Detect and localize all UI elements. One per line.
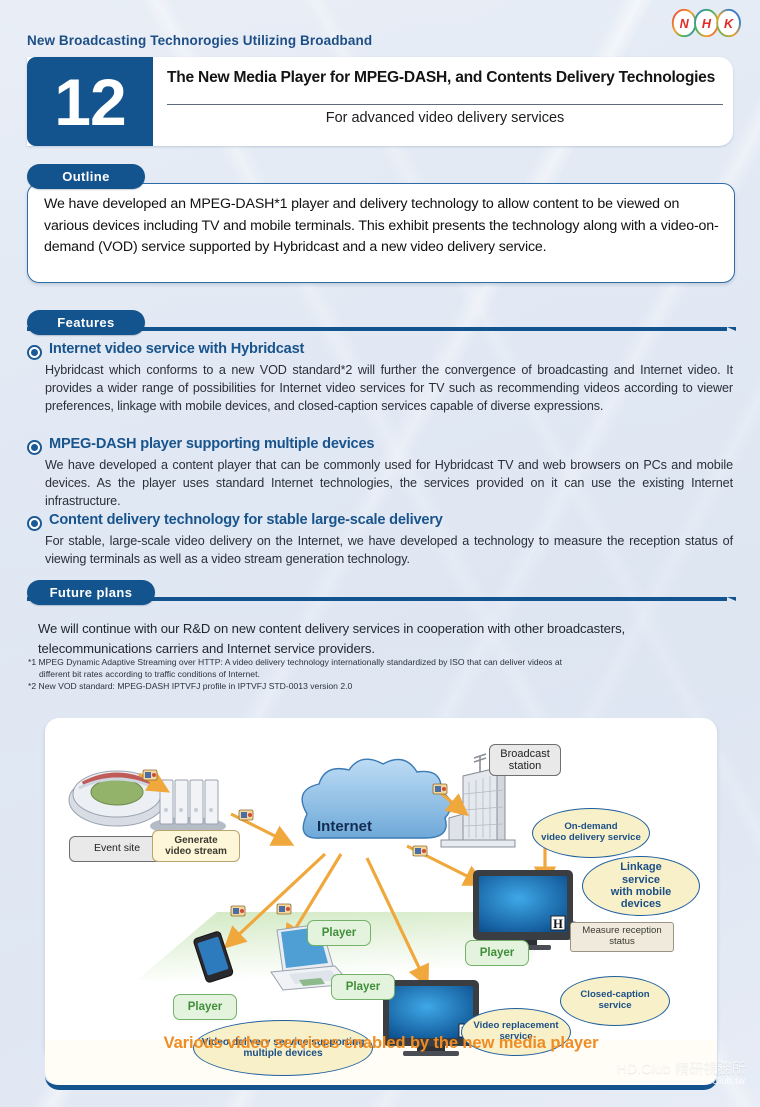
footnote-1-line1: *1 MPEG Dynamic Adaptive Streaming over … (28, 657, 562, 667)
broadcast-station-label: Broadcast station (489, 744, 561, 776)
feature-body: Hybridcast which conforms to a new VOD s… (45, 361, 733, 415)
footnotes: *1 MPEG Dynamic Adaptive Streaming over … (28, 656, 728, 693)
title-block: 12 The New Media Player for MPEG-DASH, a… (27, 57, 733, 146)
svg-text:H: H (553, 917, 563, 931)
feature-item-1: Internet video service with Hybridcast H… (27, 341, 733, 415)
on-demand-service-label: On-demand video delivery service (532, 808, 650, 858)
internet-cloud-label: Internet (317, 818, 372, 835)
linkage-service-label: Linkage service with mobile devices (582, 856, 700, 916)
svg-text:N: N (680, 17, 690, 31)
tv-upper-icon: H (473, 870, 573, 950)
page-kicker: New Broadcasting Technorogies Utilizing … (27, 33, 372, 48)
player-label-mobile: Player (173, 994, 237, 1020)
title-divider (167, 104, 723, 105)
generate-video-stream-label: Generate video stream (152, 830, 240, 862)
bullet-icon (27, 516, 42, 531)
page-subtitle: For advanced video delivery services (167, 110, 723, 126)
footnote-2: *2 New VOD standard: MPEG-DASH IPTVFJ pr… (28, 680, 728, 692)
server-rack-icon (150, 780, 226, 835)
feature-body: We have developed a content player that … (45, 456, 733, 510)
measure-reception-label: Measure reception status (570, 922, 674, 952)
svg-text:K: K (724, 17, 734, 31)
diagram-caption: Various video services enabled by the ne… (45, 1034, 717, 1053)
player-label-laptop: Player (307, 920, 371, 946)
future-plans-text: We will continue with our R&D on new con… (38, 619, 730, 658)
page-title: The New Media Player for MPEG-DASH, and … (167, 68, 723, 87)
outline-text: We have developed an MPEG-DASH*1 player … (44, 194, 720, 259)
diagram-content: H H Event site Generate video stream Int… (45, 718, 717, 1085)
player-label-tv-upper: Player (465, 940, 529, 966)
feature-title: MPEG-DASH player supporting multiple dev… (49, 436, 374, 452)
bullet-icon (27, 345, 42, 360)
bullet-icon (27, 440, 42, 455)
exhibit-number-box: 12 (27, 57, 153, 146)
feature-item-3: Content delivery technology for stable l… (27, 512, 733, 568)
svg-text:H: H (702, 17, 712, 31)
features-section-badge: Features (27, 310, 145, 335)
poster-page: New Broadcasting Technorogies Utilizing … (0, 0, 760, 1107)
player-label-tv-lower: Player (331, 974, 395, 1000)
event-site-label: Event site (69, 836, 165, 862)
closed-caption-label: Closed-caption service (560, 976, 670, 1026)
outline-card: We have developed an MPEG-DASH*1 player … (27, 183, 735, 283)
nhk-logo-icon: N H K (671, 8, 743, 38)
feature-item-2: MPEG-DASH player supporting multiple dev… (27, 436, 733, 510)
watermark-line1: HD.Club 精研視務所 (617, 1058, 746, 1078)
watermark-line2: © 2015 www.HD.Club.tw (635, 1076, 745, 1087)
feature-body: For stable, large-scale video delivery o… (45, 532, 733, 568)
feature-title: Content delivery technology for stable l… (49, 512, 443, 528)
feature-title: Internet video service with Hybridcast (49, 341, 304, 357)
footnote-1-line2: different bit rates according to traffic… (28, 668, 728, 680)
exhibit-number: 12 (27, 69, 153, 135)
outline-section-badge: Outline (27, 164, 145, 189)
future-plans-section-badge: Future plans (27, 580, 155, 605)
